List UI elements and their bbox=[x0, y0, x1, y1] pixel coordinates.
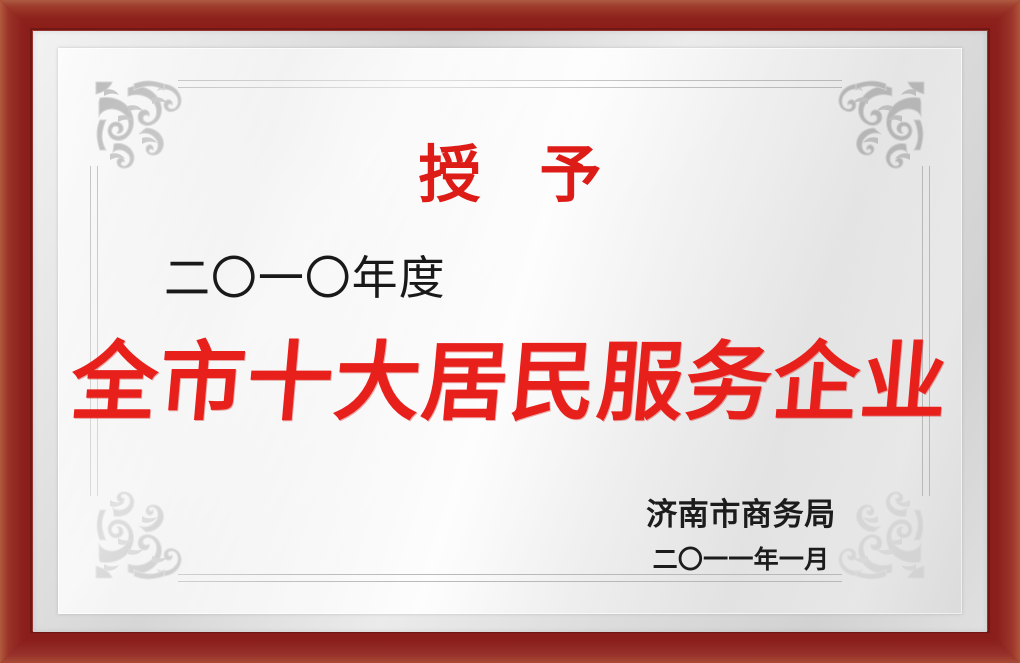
award-year-text: 二〇一〇年度 bbox=[164, 255, 446, 301]
frame-edge-top bbox=[0, 0, 1020, 30]
issuer-block: 济南市商务局 二〇一一年一月 bbox=[616, 496, 866, 575]
issuer-date-text: 二〇一一年一月 bbox=[616, 545, 866, 575]
frame-edge-bottom bbox=[0, 631, 1020, 663]
frame-edge-right bbox=[988, 0, 1020, 663]
plaque-content: 授 予 二〇一〇年度 全市十大居民服务企业 济南市商务局 二〇一一年一月 bbox=[58, 48, 962, 614]
award-plaque: 授 予 二〇一〇年度 全市十大居民服务企业 济南市商务局 二〇一一年一月 bbox=[0, 0, 1020, 663]
frame-edge-left bbox=[0, 0, 32, 663]
issuer-name-text: 济南市商务局 bbox=[616, 496, 866, 535]
silver-mat: 授 予 二〇一〇年度 全市十大居民服务企业 济南市商务局 二〇一一年一月 bbox=[33, 31, 987, 632]
certificate-plate: 授 予 二〇一〇年度 全市十大居民服务企业 济南市商务局 二〇一一年一月 bbox=[58, 48, 962, 614]
award-title-text: 全市十大居民服务企业 bbox=[54, 334, 967, 433]
award-verb-text: 授 予 bbox=[58, 144, 962, 206]
